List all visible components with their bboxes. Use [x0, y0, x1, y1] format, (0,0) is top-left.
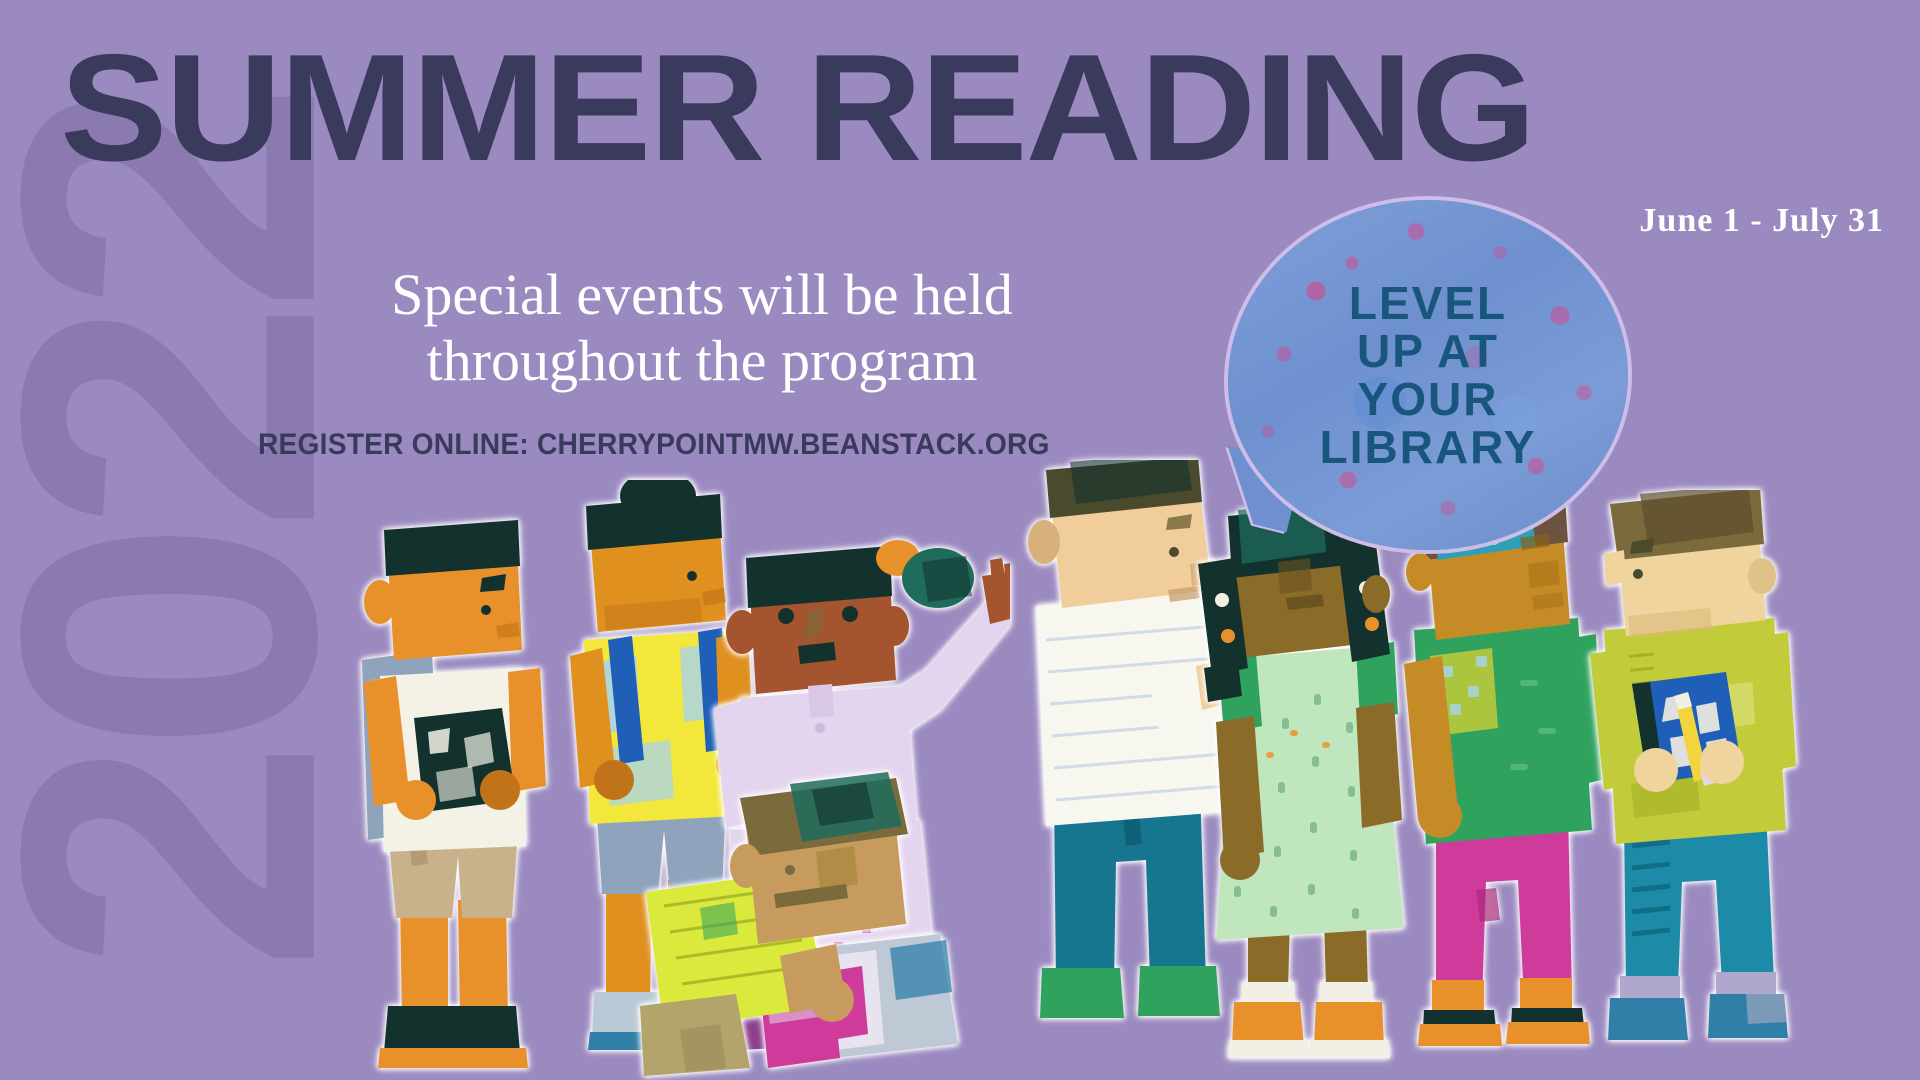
- summer-reading-poster: 2022: [0, 0, 1920, 1080]
- figure-boy-white-tshirt-khaki-shorts: [340, 500, 570, 1080]
- register-online-link[interactable]: REGISTER ONLINE: CHERRYPOINTMW.BEANSTACK…: [258, 428, 1050, 462]
- page-title: SUMMER READING: [60, 32, 1534, 184]
- subtitle: Special events will be held throughout t…: [252, 262, 1152, 393]
- figure-crouching-child-lime-shirt: [640, 700, 1000, 1080]
- children-illustration: [0, 400, 1920, 1080]
- bubble-line-3: YOUR: [1358, 376, 1499, 422]
- speech-bubble: LEVEL UP AT YOUR LIBRARY: [1228, 200, 1628, 550]
- speech-bubble-text: LEVEL UP AT YOUR LIBRARY: [1228, 200, 1628, 550]
- figure-boy-olive-shirt-teal-jeans-book: [1570, 490, 1820, 1080]
- bubble-line-4: LIBRARY: [1320, 424, 1537, 470]
- bubble-line-1: LEVEL: [1349, 280, 1507, 326]
- bubble-line-2: UP AT: [1357, 328, 1499, 374]
- date-range: June 1 - July 31: [1639, 202, 1884, 240]
